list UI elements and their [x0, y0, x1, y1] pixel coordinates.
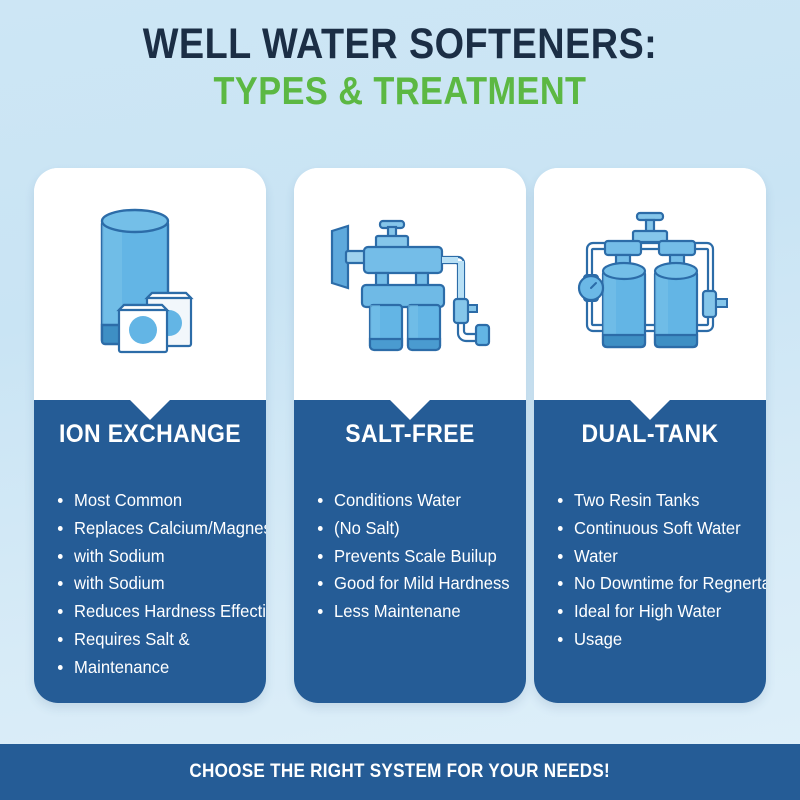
- card-bullet-list: Most Common Replaces Calcium/Magnesium w…: [56, 489, 266, 683]
- list-item-continuation: Maintenance: [56, 656, 266, 679]
- list-item: Requires Salt &: [56, 628, 266, 651]
- list-item: Two Resin Tanks: [556, 489, 766, 512]
- card-icon-area: [294, 168, 526, 400]
- list-item-continuation: Usage: [556, 628, 766, 651]
- page-title-line2: TYPES & TREATMENT: [48, 71, 752, 113]
- list-item: Prevents Scale Builup: [316, 545, 526, 568]
- wall-mounted-dual-filter-icon: [318, 199, 503, 369]
- list-item-continuation: (No Salt): [316, 517, 526, 540]
- card-text-clip: ION EXCHANGE Most Common Replaces Calciu…: [34, 400, 266, 703]
- card-heading: ION EXCHANGE: [43, 420, 256, 449]
- card-ion-exchange[interactable]: ION EXCHANGE Most Common Replaces Calciu…: [34, 168, 266, 703]
- resin-tank-with-salt-bags-icon: [60, 199, 240, 369]
- card-notch-triangle: [130, 400, 170, 420]
- card-heading: DUAL-TANK: [543, 420, 756, 449]
- list-item: No Downtime for Regnertation: [556, 572, 766, 595]
- card-text-clip: SALT-FREE Conditions Water (No Salt) Pre…: [294, 400, 526, 703]
- card-bullet-list: Conditions Water (No Salt) Prevents Scal…: [316, 489, 526, 628]
- card-icon-area: [34, 168, 266, 400]
- footer-call-to-action: CHOOSE THE RIGHT SYSTEM FOR YOUR NEEDS!: [190, 761, 611, 783]
- list-item: Continuous Soft Water: [556, 517, 766, 540]
- list-item: Replaces Calcium/Magnesium: [56, 517, 266, 540]
- card-heading: SALT-FREE: [303, 420, 516, 449]
- card-notch-triangle: [630, 400, 670, 420]
- list-item-continuation: with Sodium: [56, 572, 266, 595]
- cards-container: ION EXCHANGE Most Common Replaces Calciu…: [0, 168, 800, 704]
- list-item: Less Maintenane: [316, 600, 526, 623]
- list-item: Ideal for High Water: [556, 600, 766, 623]
- page-header: WELL WATER SOFTENERS: TYPES & TREATMENT: [0, 0, 800, 113]
- card-text-clip: DUAL-TANK Two Resin Tanks Continuous Sof…: [534, 400, 766, 703]
- list-item-continuation: Water: [556, 545, 766, 568]
- card-salt-free[interactable]: SALT-FREE Conditions Water (No Salt) Pre…: [294, 168, 526, 703]
- list-item: Most Common: [56, 489, 266, 512]
- list-item-continuation: with Sodium: [56, 545, 266, 568]
- list-item: Reduces Hardness Effectively: [56, 600, 266, 623]
- page-title-line1: WELL WATER SOFTENERS:: [48, 22, 752, 67]
- list-item: Conditions Water: [316, 489, 526, 512]
- card-icon-area: [534, 168, 766, 400]
- card-notch-triangle: [390, 400, 430, 420]
- footer-banner: CHOOSE THE RIGHT SYSTEM FOR YOUR NEEDS!: [0, 744, 800, 800]
- card-bullet-list: Two Resin Tanks Continuous Soft Water Wa…: [556, 489, 766, 656]
- dual-tank-system-icon: [555, 197, 745, 372]
- list-item: Good for Mild Hardness: [316, 572, 526, 595]
- card-dual-tank[interactable]: DUAL-TANK Two Resin Tanks Continuous Sof…: [534, 168, 766, 703]
